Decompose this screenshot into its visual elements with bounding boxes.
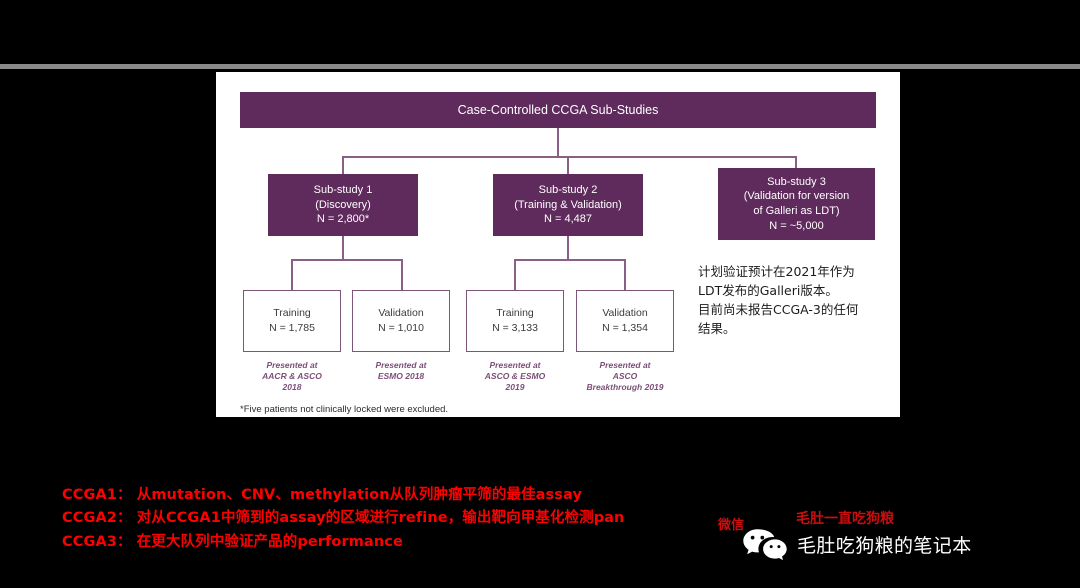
caption-validation-1: Presented at ESMO 2018 [352, 360, 450, 382]
wechat-icon [742, 527, 788, 561]
connector-substudy-2-bus [514, 259, 626, 261]
connector-header-bus [342, 156, 797, 158]
caption-training-1-line3: 2018 [243, 382, 341, 393]
training-2-label: Training [496, 306, 534, 321]
caption-training-2-line3: 2019 [466, 382, 564, 393]
validation-1-node: Validation N = 1,010 [352, 290, 450, 352]
validation-2-node: Validation N = 1,354 [576, 290, 674, 352]
connector-validation-1-drop [401, 259, 403, 290]
connector-validation-2-drop [624, 259, 626, 290]
caption-training-1-line2: AACR & ASCO [243, 371, 341, 382]
substudy-2-node: Sub-study 2 (Training & Validation) N = … [493, 174, 643, 236]
commentary-line-ccga2: CCGA2： 对从CCGA1中筛到的assay的区域进行refine，输出靶向甲… [62, 507, 782, 530]
connector-substudy-1-bus [291, 259, 403, 261]
substudy-2-line3: N = 4,487 [544, 212, 592, 227]
substudy-3-line2: (Validation for version [744, 189, 850, 204]
caption-validation-1-line2: ESMO 2018 [352, 371, 450, 382]
wechat-watermark-badge: 毛肚吃狗粮的笔记本 [742, 527, 972, 561]
substudy-1-node: Sub-study 1 (Discovery) N = 2,800* [268, 174, 418, 236]
chart-header-node: Case-Controlled CCGA Sub-Studies [240, 92, 876, 128]
validation-1-label: Validation [378, 306, 423, 321]
connector-drop-substudy-2 [567, 156, 569, 174]
substudy-3-line4: N = ~5,000 [769, 219, 823, 234]
connector-header-stem [557, 128, 559, 158]
wechat-account-name: 毛肚吃狗粮的笔记本 [797, 531, 972, 558]
caption-validation-1-line1: Presented at [352, 360, 450, 371]
watermark-fragment-left: 微信 [718, 514, 744, 533]
figure-inner: Case-Controlled CCGA Sub-Studies Sub-stu… [226, 82, 890, 407]
training-1-label: Training [273, 306, 311, 321]
training-2-n: N = 3,133 [492, 321, 538, 336]
slide-canvas: Case-Controlled CCGA Sub-Studies Sub-stu… [0, 0, 1080, 588]
chinese-annotation-line4: 结果。 [698, 319, 888, 338]
substudy-3-node: Sub-study 3 (Validation for version of G… [718, 168, 875, 240]
validation-2-n: N = 1,354 [602, 321, 648, 336]
caption-validation-2-line3: Breakthrough 2019 [576, 382, 674, 393]
chart-header-label: Case-Controlled CCGA Sub-Studies [458, 102, 659, 119]
commentary-line-ccga3: CCGA3： 在更大队列中验证产品的performance [62, 531, 782, 554]
caption-training-1-line1: Presented at [243, 360, 341, 371]
watermark-fragment-right: 毛肚一直吃狗粮 [796, 508, 894, 528]
caption-training-2-line1: Presented at [466, 360, 564, 371]
connector-training-2-drop [514, 259, 516, 290]
connector-drop-substudy-1 [342, 156, 344, 174]
substudy-3-line3: of Galleri as LDT) [753, 204, 839, 219]
validation-1-n: N = 1,010 [378, 321, 424, 336]
connector-substudy-2-stem [567, 236, 569, 260]
training-1-node: Training N = 1,785 [243, 290, 341, 352]
figure-footnote: *Five patients not clinically locked wer… [240, 404, 448, 415]
training-1-n: N = 1,785 [269, 321, 315, 336]
commentary-block: CCGA1： 从mutation、CNV、methylation从队列肿瘤平筛的… [62, 484, 782, 554]
substudy-2-line2: (Training & Validation) [514, 198, 622, 213]
figure-card: Case-Controlled CCGA Sub-Studies Sub-stu… [216, 72, 900, 417]
chinese-annotation-line2: LDT发布的Galleri版本。 [698, 281, 888, 300]
chinese-annotation-line3: 目前尚未报告CCGA-3的任何 [698, 300, 888, 319]
caption-training-1: Presented at AACR & ASCO 2018 [243, 360, 341, 394]
commentary-line-ccga1: CCGA1： 从mutation、CNV、methylation从队列肿瘤平筛的… [62, 484, 782, 507]
training-2-node: Training N = 3,133 [466, 290, 564, 352]
caption-training-2-line2: ASCO & ESMO [466, 371, 564, 382]
substudy-2-line1: Sub-study 2 [539, 183, 598, 198]
top-divider-rule [0, 64, 1080, 69]
substudy-1-line2: (Discovery) [315, 198, 371, 213]
chinese-annotation-line1: 计划验证预计在2021年作为 [698, 262, 888, 281]
connector-training-1-drop [291, 259, 293, 290]
substudy-3-line1: Sub-study 3 [767, 175, 826, 190]
caption-validation-2-line1: Presented at [576, 360, 674, 371]
chinese-annotation: 计划验证预计在2021年作为 LDT发布的Galleri版本。 目前尚未报告CC… [698, 262, 888, 338]
caption-validation-2-line2: ASCO [576, 371, 674, 382]
substudy-1-line3: N = 2,800* [317, 212, 369, 227]
validation-2-label: Validation [602, 306, 647, 321]
substudy-1-line1: Sub-study 1 [314, 183, 373, 198]
connector-substudy-1-stem [342, 236, 344, 260]
caption-validation-2: Presented at ASCO Breakthrough 2019 [576, 360, 674, 394]
caption-training-2: Presented at ASCO & ESMO 2019 [466, 360, 564, 394]
